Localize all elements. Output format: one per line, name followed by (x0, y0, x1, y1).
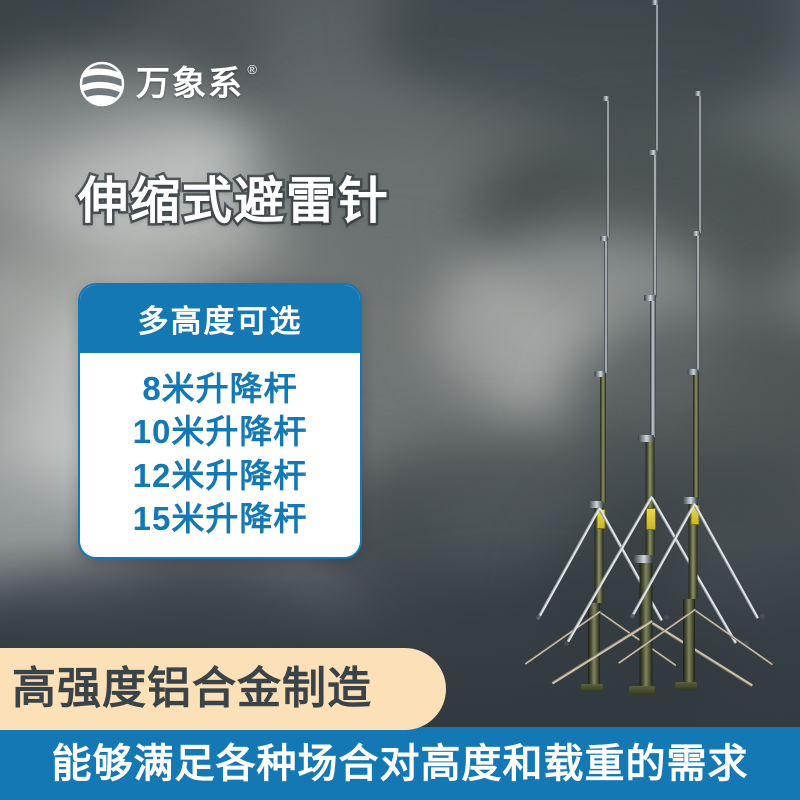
height-option-item[interactable]: 8米升降杆 (142, 369, 297, 409)
height-card-body: 8米升降杆 10米升降杆 12米升降杆 15米升降杆 (80, 353, 360, 557)
material-banner: 高强度铝合金制造 (0, 648, 446, 730)
brand-logo: 万象系 ® (78, 60, 244, 108)
tagline-banner: 能够满足各种场合对高度和载重的需求 (0, 727, 800, 800)
height-option-item[interactable]: 10米升降杆 (133, 412, 308, 452)
tagline-banner-text: 能够满足各种场合对高度和载重的需求 (52, 744, 749, 784)
height-options-card: 多高度可选 8米升降杆 10米升降杆 12米升降杆 15米升降杆 (78, 283, 362, 559)
height-card-header: 多高度可选 (80, 285, 360, 353)
swoosh-sphere-logo-icon (78, 60, 126, 108)
brand-name-label: 万象系 (136, 65, 244, 103)
height-option-item[interactable]: 15米升降杆 (133, 499, 308, 539)
brand-name-text: 万象系 ® (136, 67, 244, 101)
height-option-item[interactable]: 12米升降杆 (133, 456, 308, 496)
product-banner: 万象系 ® 伸缩式避雷针 多高度可选 8米升降杆 10米升降杆 12米升降杆 1… (0, 0, 800, 800)
material-banner-text: 高强度铝合金制造 (12, 667, 372, 711)
page-title: 伸缩式避雷针 (78, 176, 390, 226)
registered-mark: ® (247, 63, 259, 76)
